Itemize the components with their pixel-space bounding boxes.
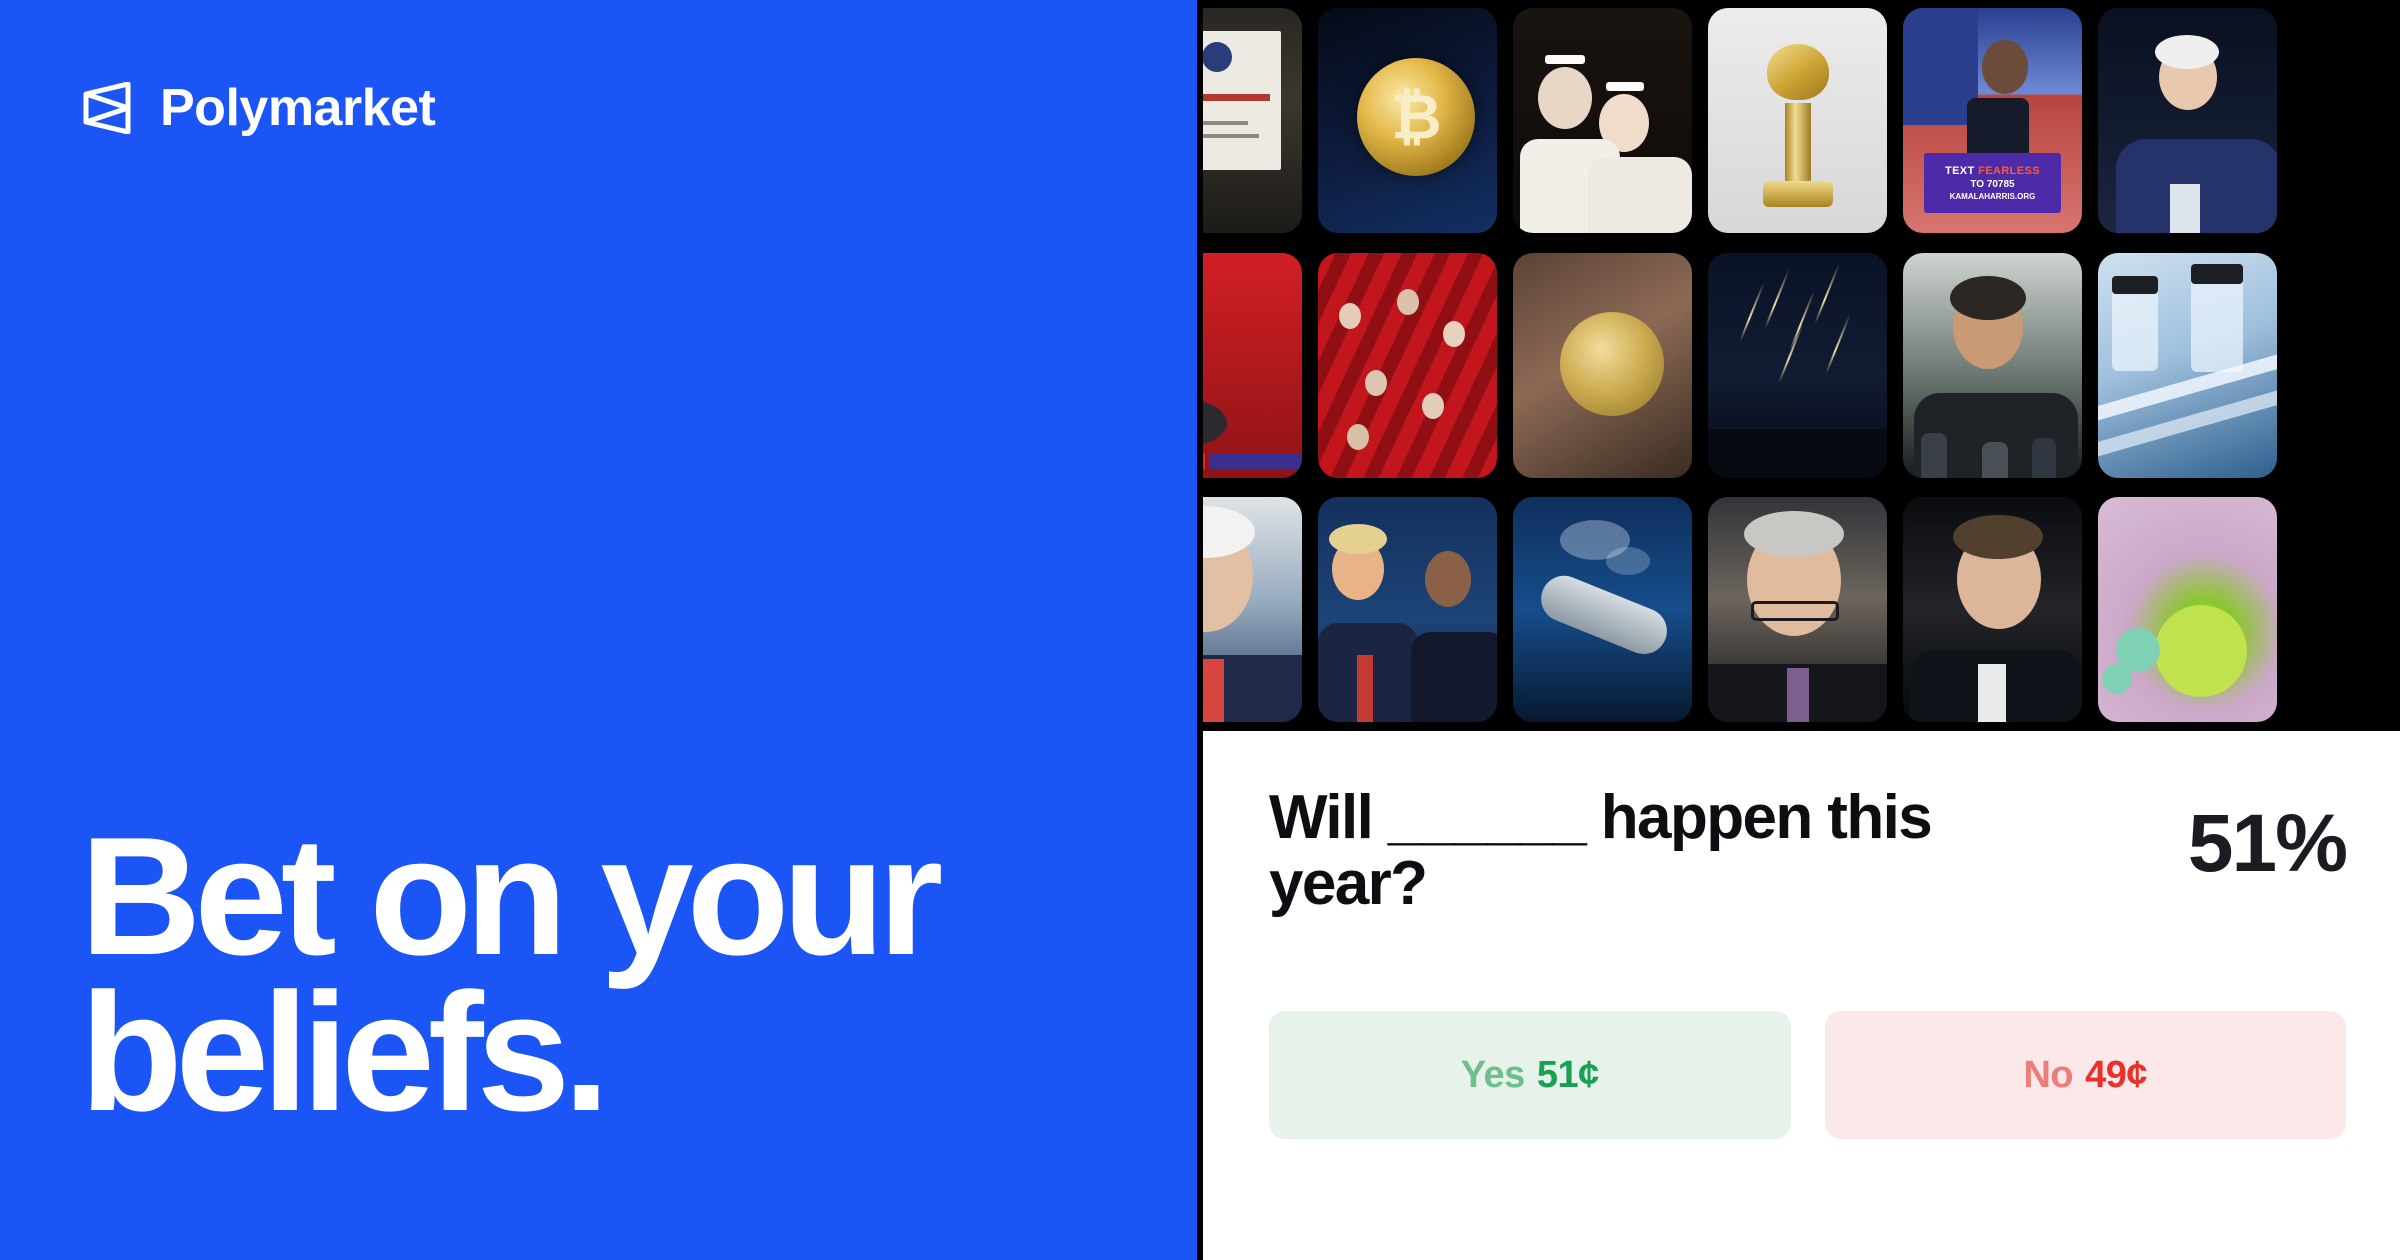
tile-joe-biden-portrait[interactable] (1203, 497, 1302, 722)
market-card[interactable]: Will ______ happen this year? 51% Yes 51… (1203, 731, 2400, 1260)
mosaic-row (1203, 497, 2400, 722)
tile-virus-microscopy[interactable] (2098, 497, 2277, 722)
right-pane: TEXT FEARLESS TO 70785 KAMALAHARRIS.ORG (1203, 0, 2400, 1260)
tile-bitcoin-coin[interactable] (1318, 8, 1497, 233)
brand-panel: Polymarket Bet on your beliefs. (0, 0, 1197, 1260)
tile-nba-championship-trophy[interactable] (1708, 8, 1887, 233)
tile-nobel-prize-medal[interactable] (1513, 253, 1692, 478)
page-root: Polymarket Bet on your beliefs. (0, 0, 2400, 1260)
tile-elon-musk[interactable] (1903, 497, 2082, 722)
sign-text-line2: TO 70785 (1970, 179, 2014, 190)
no-label: No (2023, 1054, 2073, 1097)
buy-yes-button[interactable]: Yes 51¢ (1269, 1011, 1791, 1139)
tile-jerome-powell[interactable] (1708, 497, 1887, 722)
tile-executive-order-document[interactable] (1203, 8, 1302, 233)
kamala-campaign-sign: TEXT FEARLESS TO 70785 KAMALAHARRIS.ORG (1924, 153, 2060, 213)
nobel-medal-icon (1560, 312, 1664, 416)
tile-trump-harris-debate[interactable] (1318, 497, 1497, 722)
hero-headline: Bet on your beliefs. (80, 818, 1197, 1130)
tile-titan-submersible[interactable] (1513, 497, 1692, 722)
tile-kamala-harris-rally[interactable]: TEXT FEARLESS TO 70785 KAMALAHARRIS.ORG (1903, 8, 2082, 233)
tile-missile-strikes-night[interactable] (1708, 253, 1887, 478)
sign-text-emph: FEARLESS (1978, 165, 2040, 177)
mosaic-row: TEXT FEARLESS TO 70785 KAMALAHARRIS.ORG (1203, 8, 2400, 233)
bitcoin-icon (1357, 58, 1475, 176)
buy-no-button[interactable]: No 49¢ (1825, 1011, 2347, 1139)
tile-travis-kelce-taylor-swift[interactable] (1513, 8, 1692, 233)
polymarket-bowtie-logo-icon (82, 82, 134, 134)
mosaic-row (1203, 253, 2400, 478)
tile-vaccine-vials-syringes[interactable] (2098, 253, 2277, 478)
sign-text-line3: KAMALAHARRIS.ORG (1950, 192, 2036, 201)
yes-label: Yes (1461, 1054, 1525, 1097)
market-question: Will ______ happen this year? (1269, 785, 1969, 918)
tile-cardinals-conclave[interactable] (1318, 253, 1497, 478)
market-probability: 51% (2188, 785, 2346, 885)
sign-text-prefix: TEXT (1945, 165, 1978, 177)
yes-price: 51¢ (1537, 1054, 1599, 1097)
tile-press-conference-man[interactable] (1903, 253, 2082, 478)
market-card-header: Will ______ happen this year? 51% (1269, 785, 2346, 918)
polymarket-logo[interactable]: Polymarket (82, 82, 435, 134)
market-image-mosaic: TEXT FEARLESS TO 70785 KAMALAHARRIS.ORG (1203, 0, 2400, 731)
tile-news-broadcast-red[interactable] (1203, 253, 1302, 478)
tile-joe-biden-event[interactable] (2098, 8, 2277, 233)
brand-wordmark: Polymarket (160, 82, 435, 134)
outcome-buttons: Yes 51¢ No 49¢ (1269, 1011, 2346, 1139)
no-price: 49¢ (2085, 1054, 2147, 1097)
